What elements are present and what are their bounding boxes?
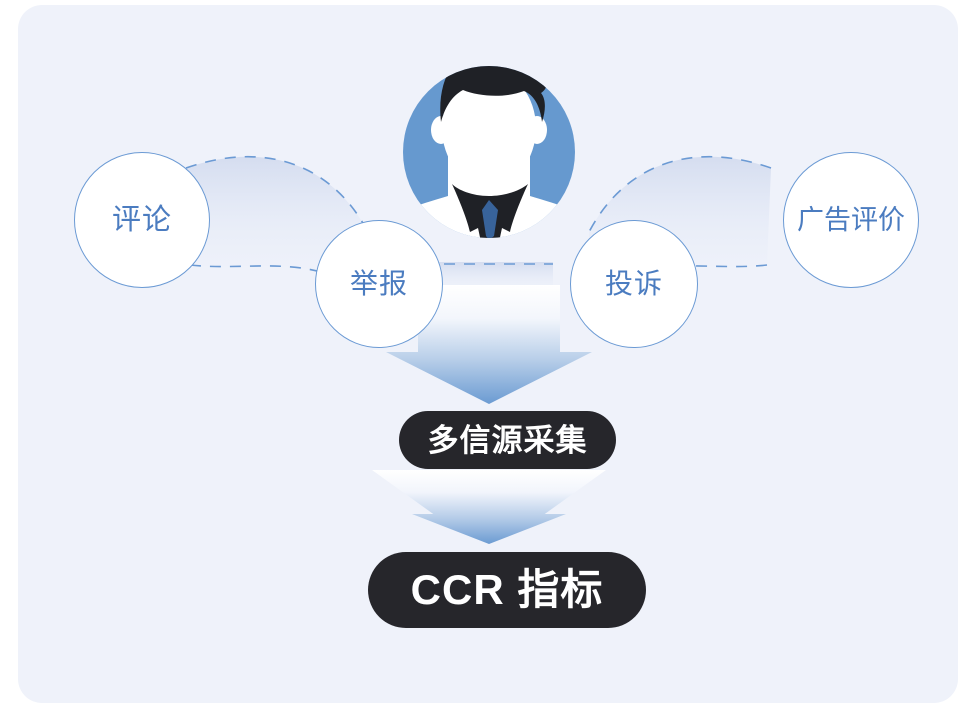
source-node-report[interactable]: 举报 <box>315 220 443 348</box>
arrow-collect-to-ccr-icon <box>372 470 606 544</box>
stage-pill-ccr[interactable]: CCR 指标 <box>368 552 646 628</box>
source-node-comment-label: 评论 <box>112 206 172 235</box>
source-node-complaint[interactable]: 投诉 <box>570 220 698 348</box>
source-node-ad-review[interactable]: 广告评价 <box>783 152 919 288</box>
diagram-canvas: 评论 举报 投诉 广告评价 多信源采集 CCR 指标 <box>18 5 958 703</box>
user-avatar <box>362 44 616 250</box>
stage-pill-ccr-label: CCR 指标 <box>411 569 604 611</box>
ribbon-report-complaint <box>424 262 553 296</box>
source-node-ad-review-label: 广告评价 <box>797 207 905 234</box>
source-node-complaint-label: 投诉 <box>605 270 663 298</box>
source-node-report-label: 举报 <box>350 270 408 298</box>
stage-pill-collect-label: 多信源采集 <box>428 425 588 456</box>
source-node-comment[interactable]: 评论 <box>74 152 210 288</box>
diagram-root: 评论 举报 投诉 广告评价 多信源采集 CCR 指标 <box>0 0 974 710</box>
stage-pill-collect[interactable]: 多信源采集 <box>399 411 616 469</box>
